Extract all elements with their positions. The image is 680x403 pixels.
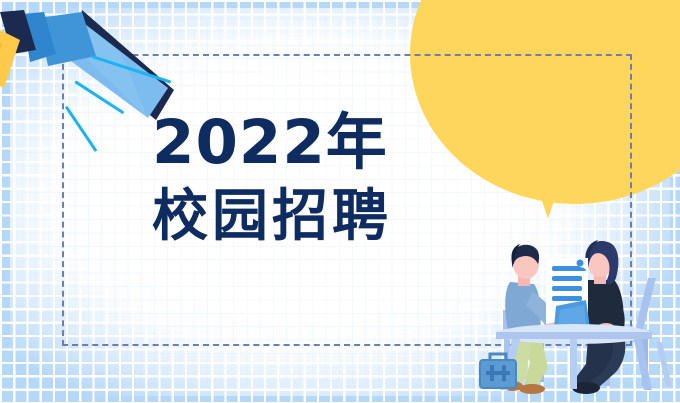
recruitment-banner: 2022年 校园招聘	[0, 0, 680, 403]
briefcase-icon	[480, 354, 516, 388]
page-title: 2022年 校园招聘	[152, 112, 452, 245]
title-line-year: 2022年	[152, 112, 452, 173]
title-line-campus-recruitment: 校园招聘	[152, 189, 452, 245]
interview-illustration	[470, 238, 680, 403]
